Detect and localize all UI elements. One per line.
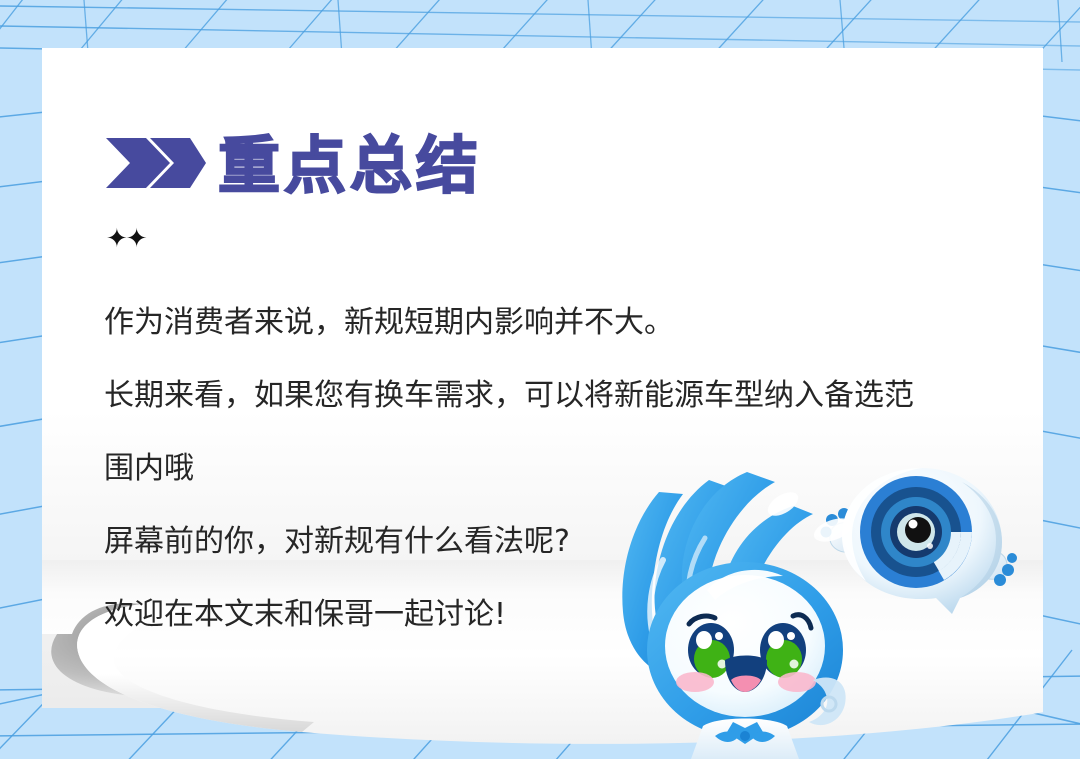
summary-line: 长期来看，如果您有换车需求，可以将新能源车型纳入备选范 [104, 359, 1004, 432]
page-title-text: 重点总结 [218, 135, 482, 197]
blue-water-drop-mascot [597, 464, 862, 759]
mascot-blush-right [778, 672, 816, 692]
mascot-blush-left [676, 672, 714, 692]
page-title: 重点总结 [104, 132, 482, 199]
robot-eye-icon [860, 476, 972, 588]
summary-line: 作为消费者来说，新规短期内影响并不大。 [104, 286, 1004, 359]
poster-canvas: 重点总结 ✦✦ 作为消费者来说，新规短期内影响并不大。 长期来看，如果您有换车需… [0, 0, 1080, 759]
mascot-body [691, 719, 799, 759]
chevron-double-right-icon [104, 132, 208, 199]
sparkle-icon: ✦✦ [106, 226, 146, 252]
